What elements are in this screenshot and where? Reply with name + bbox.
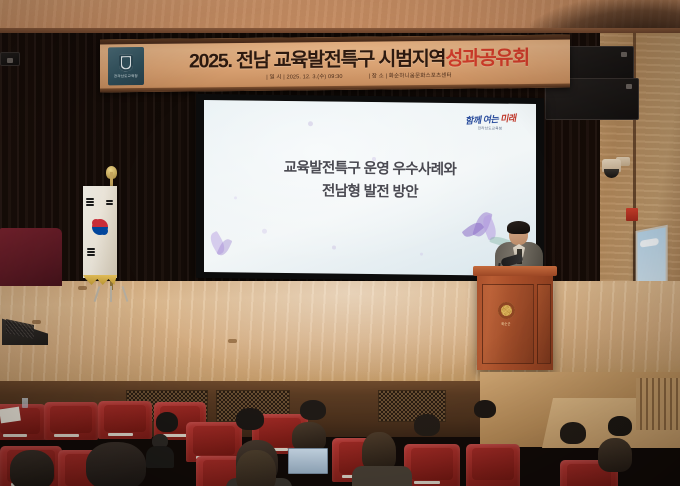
slide-title: 교육발전특구 운영 우수사례와 전남형 발전 방안 xyxy=(204,156,536,206)
audience-head xyxy=(10,450,54,486)
podium-emblem-ring-icon xyxy=(498,302,515,319)
seat-back xyxy=(50,406,91,433)
presenter-hair xyxy=(507,221,530,234)
projection-screen: 함께 여는 미래 전라남도교육청 교육발전특구 운영 우수사례와 전남형 발전 … xyxy=(204,100,536,276)
slide-dot-3 xyxy=(262,229,267,234)
seat-back xyxy=(104,405,145,432)
seat xyxy=(466,444,520,486)
seat xyxy=(44,402,98,440)
emblem-label: 전라남도교육청 xyxy=(114,73,138,78)
maroon-side-table xyxy=(0,228,62,286)
audience-head xyxy=(474,400,496,418)
audience-head xyxy=(86,442,146,486)
water-bottle xyxy=(22,398,28,408)
line-array-speaker-small-left xyxy=(0,52,20,66)
taeguk-symbol-icon xyxy=(92,219,108,235)
audience-head xyxy=(414,414,440,436)
seat-number-tag xyxy=(108,433,133,436)
flag-stand-leg-2 xyxy=(110,286,112,302)
auditorium-photo: 전라남도교육청 2025. 전남 교육발전특구 시범지역 성과공유회 | 일 시… xyxy=(0,0,680,486)
audience-head xyxy=(300,400,326,420)
banner-title-main: 2025. 전남 교육발전특구 시범지역 xyxy=(189,41,445,73)
seat-number-tag xyxy=(414,481,440,485)
seat-back xyxy=(472,448,513,480)
audience-head xyxy=(560,422,586,444)
audience-head xyxy=(598,438,632,472)
audience-head xyxy=(608,416,632,436)
flag-stand xyxy=(96,286,126,302)
trigram-8 xyxy=(106,203,113,205)
trigram-4 xyxy=(87,248,95,250)
audience-head xyxy=(156,412,178,432)
trigram-1 xyxy=(86,198,94,200)
projection-screen-frame: 함께 여는 미래 전라남도교육청 교육발전특구 운영 우수사례와 전남형 발전 … xyxy=(196,94,544,282)
audience-area xyxy=(0,398,680,486)
slide-dot-2 xyxy=(372,157,376,161)
stage-floor-socket-1 xyxy=(32,320,41,324)
audience-torso xyxy=(146,446,174,468)
slide-dot-6 xyxy=(234,196,237,199)
stage-floor-socket-2 xyxy=(228,339,237,343)
slide-title-line2: 전남형 발전 방안 xyxy=(204,179,536,206)
banner-place: | 장 소 | 화순하니움문화스포츠센터 xyxy=(369,71,452,80)
slide-dot-1 xyxy=(308,121,313,126)
emblem-mark-icon xyxy=(119,54,133,71)
audience-torso xyxy=(352,466,412,486)
audience-laptop xyxy=(288,448,328,474)
handout-paper xyxy=(0,407,21,424)
stage-floor-socket-3 xyxy=(78,286,87,290)
banner-datetime: | 일 시 | 2025. 12. 3.(수) 09:30 xyxy=(266,72,342,81)
seat-back xyxy=(411,448,454,480)
seat-number-tag xyxy=(3,434,27,437)
seat xyxy=(404,444,460,486)
podium-emblem: 화순군 xyxy=(493,300,519,328)
seat-number-tag xyxy=(54,434,79,437)
podium-emblem-label: 화순군 xyxy=(501,321,510,326)
slide-logo-main: 함께 여는 xyxy=(464,113,500,125)
education-office-emblem: 전라남도교육청 xyxy=(108,47,144,85)
event-banner: 전라남도교육청 2025. 전남 교육발전특구 시범지역 성과공유회 | 일 시… xyxy=(100,35,570,93)
podium-panel-right xyxy=(537,284,551,364)
trigram-2 xyxy=(86,201,94,203)
slide-dot-4 xyxy=(332,246,336,250)
trigram-6 xyxy=(87,254,95,256)
camera-dome xyxy=(604,169,619,178)
audience-head xyxy=(236,408,264,430)
slide-dot-5 xyxy=(420,253,423,256)
seat xyxy=(98,401,152,439)
trigram-3 xyxy=(86,204,94,206)
slide-logo-text: 함께 여는 미래 xyxy=(464,111,515,127)
slide-logo-sub: 전라남도교육청 xyxy=(478,126,503,131)
seat-back xyxy=(193,426,236,455)
trigram-7 xyxy=(106,200,113,202)
audience-head xyxy=(236,450,276,486)
podium: 화순군 xyxy=(477,272,553,370)
podium-top-surface xyxy=(473,266,557,276)
slide-logo: 함께 여는 미래 전라남도교육청 xyxy=(454,110,526,133)
trigram-5 xyxy=(87,251,95,253)
dome-security-camera xyxy=(602,155,630,181)
banner-title: 2025. 전남 교육발전특구 시범지역 성과공유회 xyxy=(152,40,566,74)
slide-logo-accent: 미래 xyxy=(499,113,515,124)
wall-red-marker xyxy=(626,208,638,221)
korean-flag xyxy=(83,186,117,278)
banner-title-accent: 성과공유회 xyxy=(445,40,529,70)
